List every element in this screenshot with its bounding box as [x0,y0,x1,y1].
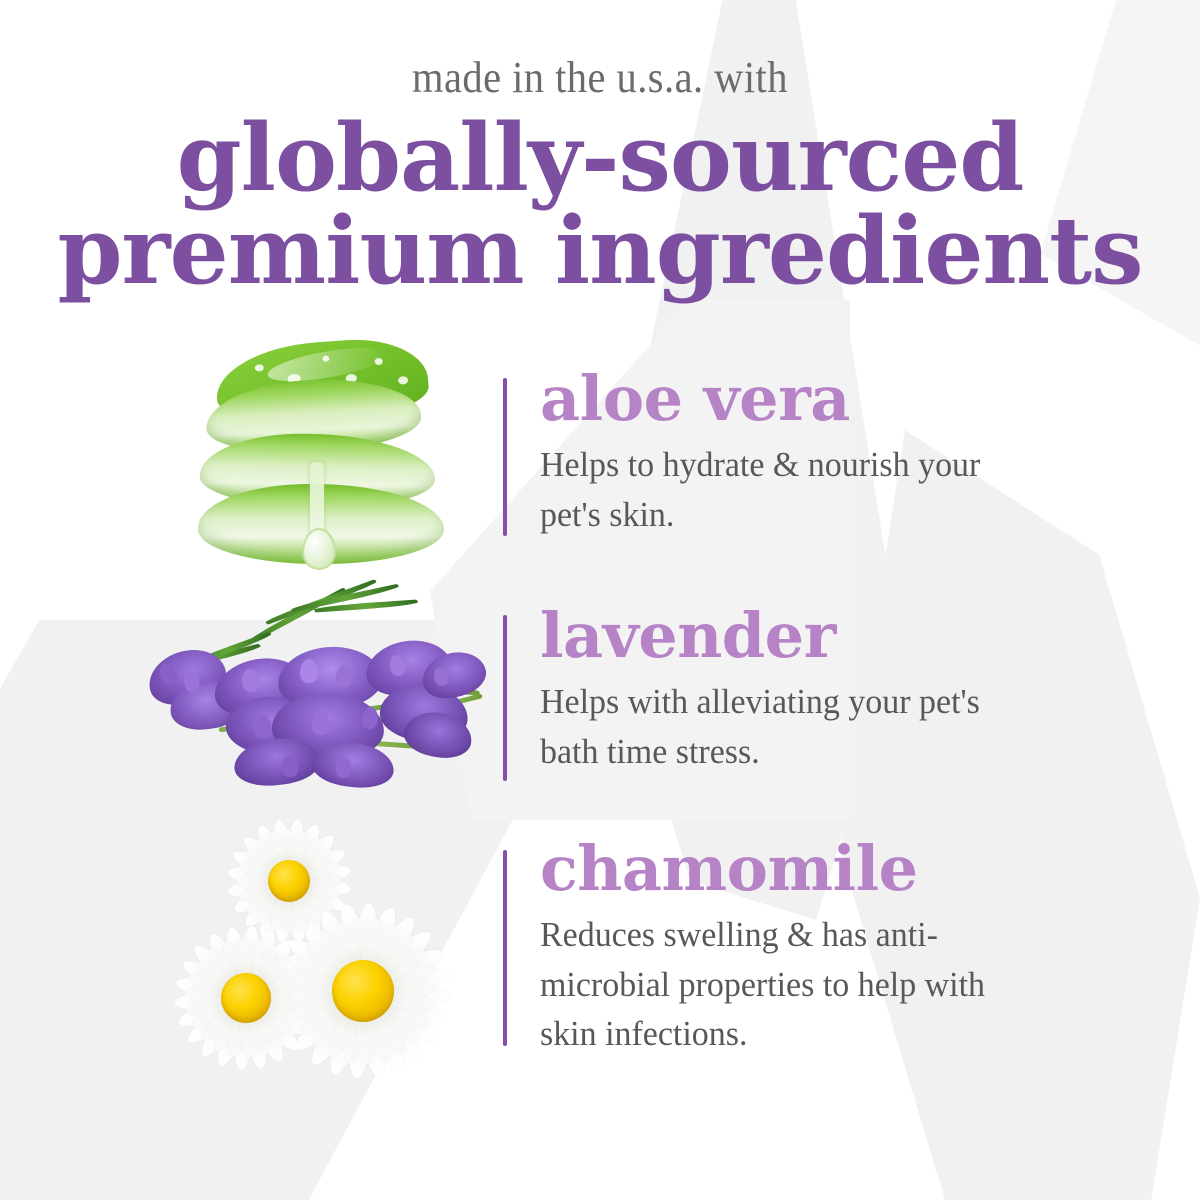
section-divider [503,378,507,536]
water-droplet [374,358,382,366]
ingredient-row-chamomile: chamomile Reduces swelling & has anti-mi… [0,810,1200,1080]
ingredient-description-chamomile: Reduces swelling & has anti-microbial pr… [540,910,1044,1059]
ingredient-description-aloe-vera: Helps to hydrate & nourish your pet's sk… [540,440,1044,539]
infographic-canvas: made in the u.s.a. with globally-sourced… [0,0,1200,1200]
flower-center [221,973,271,1023]
section-divider [503,615,507,781]
lavender-illustration [122,589,498,789]
chamomile-image [0,810,500,1080]
ingredient-name-chamomile: chamomile [540,838,1060,900]
ingredient-name-lavender: lavender [540,605,1060,667]
water-droplet [255,364,264,372]
ingredient-name-aloe-vera: aloe vera [540,368,1060,430]
aloe-vera-text-block: aloe vera Helps to hydrate & nourish you… [540,368,1060,539]
aloe-vera-image [0,330,500,580]
ingredient-description-lavender: Helps with alleviating your pet's bath t… [540,677,1044,776]
water-droplet [398,376,409,385]
page-title-line-1: globally-sourced [0,114,1200,201]
eyebrow-text: made in the u.s.a. with [48,56,1152,100]
ingredient-row-aloe-vera: aloe vera Helps to hydrate & nourish you… [0,330,1200,580]
flower-center [332,960,394,1022]
ingredient-row-lavender: lavender Helps with alleviating your pet… [0,575,1200,825]
aloe-gel-droplet [302,528,336,570]
page-title-line-2: premium ingredients [0,207,1200,294]
header: made in the u.s.a. with globally-sourced… [0,0,1200,295]
lavender-text-block: lavender Helps with alleviating your pet… [540,605,1060,776]
lavender-floret [300,659,318,683]
aloe-vera-illustration [198,342,448,567]
section-divider [503,850,507,1046]
page-title: globally-sourced premium ingredients [0,114,1200,295]
flower-center [268,860,310,902]
chamomile-text-block: chamomile Reduces swelling & has anti-mi… [540,838,1060,1059]
chamomile-illustration [172,816,462,1078]
lavender-image [0,575,500,825]
